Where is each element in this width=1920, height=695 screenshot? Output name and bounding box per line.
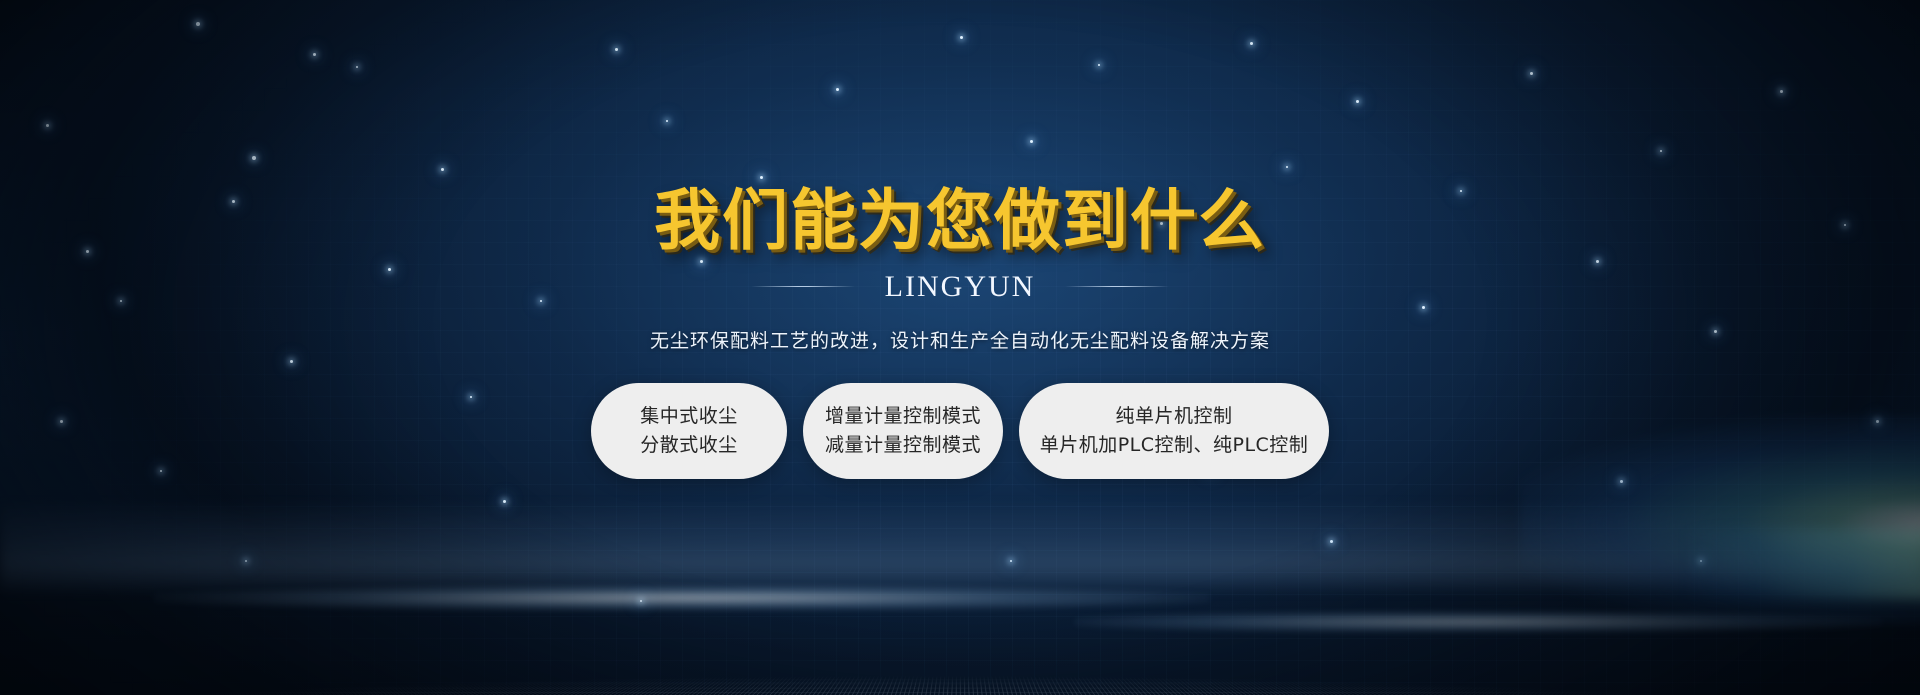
feature-card-line-1: 集中式收尘 bbox=[640, 406, 738, 427]
feature-card[interactable]: 纯单片机控制 单片机加PLC控制、纯PLC控制 bbox=[1019, 383, 1329, 479]
feature-card-line-2: 减量计量控制模式 bbox=[825, 435, 981, 456]
feature-card-line-1: 增量计量控制模式 bbox=[825, 406, 981, 427]
wave-crest-left bbox=[154, 585, 1210, 611]
hero-banner: 我们能为您做到什么 LINGYUN 无尘环保配料工艺的改进，设计和生产全自动化无… bbox=[0, 0, 1920, 695]
feature-card[interactable]: 增量计量控制模式 减量计量控制模式 bbox=[803, 383, 1003, 479]
feature-card-line-2: 分散式收尘 bbox=[640, 435, 738, 456]
wave-mesh bbox=[0, 623, 1920, 695]
right-edge-flare bbox=[1520, 415, 1920, 625]
brand-name: LINGYUN bbox=[885, 270, 1036, 304]
right-edge-flare-streak bbox=[1680, 529, 1920, 599]
feature-card-list: 集中式收尘 分散式收尘 增量计量控制模式 减量计量控制模式 纯单片机控制 单片机… bbox=[591, 383, 1329, 479]
feature-card-line-2: 单片机加PLC控制、纯PLC控制 bbox=[1040, 435, 1309, 456]
brand-divider-row: LINGYUN bbox=[751, 270, 1170, 304]
divider-line-left bbox=[751, 286, 855, 287]
wave-crest-right bbox=[1075, 611, 1881, 633]
divider-line-right bbox=[1065, 286, 1169, 287]
banner-content: 我们能为您做到什么 LINGYUN 无尘环保配料工艺的改进，设计和生产全自动化无… bbox=[0, 0, 1920, 695]
tagline: 无尘环保配料工艺的改进，设计和生产全自动化无尘配料设备解决方案 bbox=[650, 326, 1270, 353]
feature-card[interactable]: 集中式收尘 分散式收尘 bbox=[591, 383, 787, 479]
horizon-fog bbox=[0, 500, 1920, 590]
page-title: 我们能为您做到什么 bbox=[654, 186, 1266, 256]
feature-card-line-1: 纯单片机控制 bbox=[1115, 406, 1232, 427]
particle-wave-field bbox=[0, 505, 1920, 695]
